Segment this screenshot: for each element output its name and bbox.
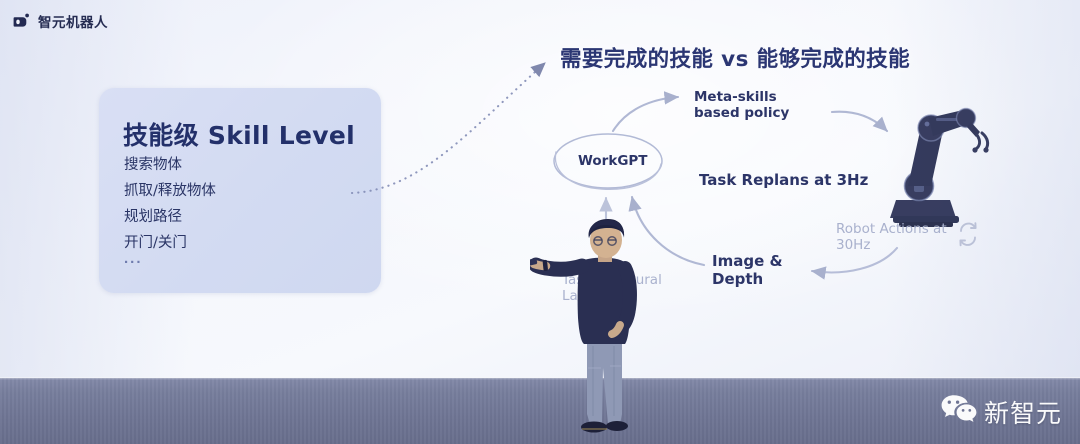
brand-header: 智元机器人 <box>12 11 108 31</box>
list-item: 规划路径 <box>124 208 216 226</box>
list-item: 搜索物体 <box>124 156 216 174</box>
list-ellipsis: ... <box>124 250 143 267</box>
slide-headline: 需要完成的技能 vs 能够完成的技能 <box>560 42 910 73</box>
node-label-task-replans: Task Replans at 3Hz <box>699 171 868 189</box>
channel-watermark: 新智元 <box>941 394 1062 430</box>
wechat-icon <box>941 394 977 430</box>
skill-list: 搜索物体 抓取/释放物体 规划路径 开门/关门 <box>124 156 216 253</box>
brand-name: 智元机器人 <box>38 11 108 31</box>
node-label-workgpt: WorkGPT <box>578 153 648 169</box>
watermark-text: 新智元 <box>984 394 1062 430</box>
panel-title: 技能级 Skill Level <box>123 116 355 152</box>
node-label-robot-actions: Robot Actions at 30Hz <box>836 221 951 253</box>
presenter-figure <box>530 218 680 444</box>
node-label-image-depth: Image & Depth <box>712 252 792 288</box>
node-label-meta-skills: Meta-skills based policy <box>694 89 819 121</box>
screenshot-stage: 智元机器人 技能级 Skill Level 搜索物体 抓取/释放物体 规划路径 … <box>0 0 1080 444</box>
agibot-logo-icon <box>12 12 31 31</box>
list-item: 抓取/释放物体 <box>124 182 216 200</box>
skill-level-panel: 技能级 Skill Level 搜索物体 抓取/释放物体 规划路径 开门/关门 … <box>99 88 381 293</box>
